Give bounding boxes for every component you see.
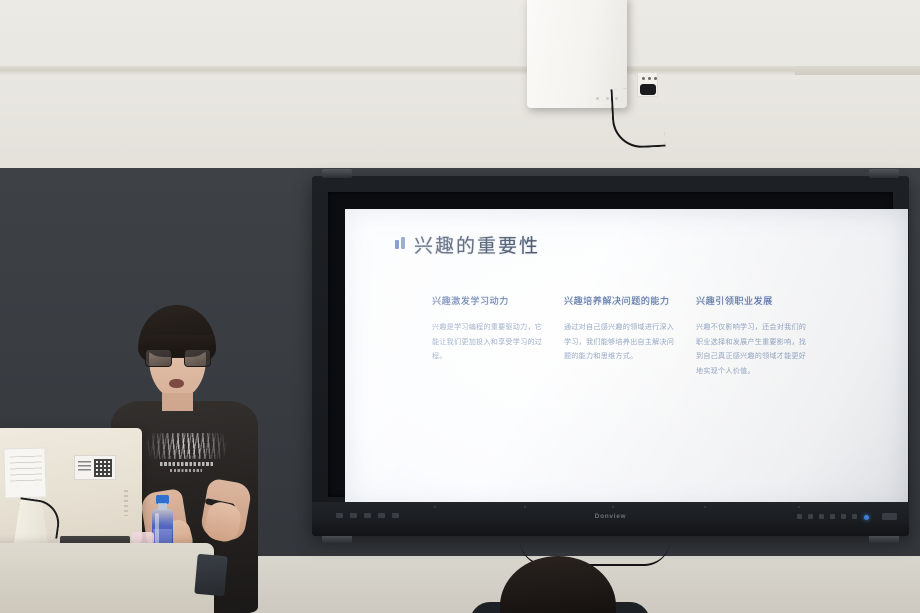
classroom-scene: 兴趣的重要性 兴趣激发学习动力 兴趣是学习编程的重要驱动力，它能让我们更加投入和…	[0, 0, 920, 613]
column-heading: 兴趣培养解决问题的能力	[564, 295, 675, 308]
mount-bracket-top-left	[322, 169, 352, 178]
interactive-display[interactable]: 兴趣的重要性 兴趣激发学习动力 兴趣是学习编程的重要驱动力，它能让我们更加投入和…	[312, 176, 909, 536]
monitor-vents	[124, 490, 128, 516]
column-heading: 兴趣引领职业发展	[696, 295, 807, 308]
slide-column-1: 兴趣激发学习动力 兴趣是学习编程的重要驱动力，它能让我们更加投入和享受学习的过程…	[432, 295, 543, 378]
hanging-badge	[194, 554, 227, 596]
tshirt-graphic	[144, 433, 230, 479]
column-heading: 兴趣激发学习动力	[432, 295, 543, 308]
paper-note	[3, 447, 46, 498]
column-body: 兴趣是学习编程的重要驱动力，它能让我们更加投入和享受学习的过程。	[432, 320, 543, 364]
presenter-mouth	[169, 379, 184, 388]
mount-bracket-top-right	[869, 169, 899, 178]
double-bar-icon	[395, 237, 405, 249]
page-title: 兴趣的重要性	[414, 231, 540, 258]
wall-panel-seam	[795, 66, 920, 75]
presentation-screen[interactable]: 兴趣的重要性 兴趣激发学习动力 兴趣是学习编程的重要驱动力，它能让我们更加投入和…	[345, 209, 908, 512]
column-body: 兴趣不仅影响学习，还会对我们的职业选择和发展产生重要影响，找到自己真正感兴趣的领…	[696, 320, 807, 378]
slide-title-row: 兴趣的重要性	[395, 231, 878, 258]
bezel-right-logo	[882, 513, 897, 520]
presenter-neck	[162, 393, 193, 411]
slide-content: 兴趣的重要性 兴趣激发学习动力 兴趣是学习编程的重要驱动力，它能让我们更加投入和…	[345, 209, 908, 512]
slide-columns: 兴趣激发学习动力 兴趣是学习编程的重要驱动力，它能让我们更加投入和享受学习的过程…	[432, 295, 807, 378]
slide-column-2: 兴趣培养解决问题的能力 通过对自己感兴趣的领域进行深入学习，我们能够培养出自主解…	[564, 295, 675, 378]
bezel-control-keys-right[interactable]	[797, 514, 857, 519]
classroom-wall	[0, 0, 920, 172]
lectern-desk	[0, 543, 214, 613]
slide-column-3: 兴趣引领职业发展 兴趣不仅影响学习，还会对我们的职业选择和发展产生重要影响，找到…	[696, 295, 807, 378]
qr-code-tag	[74, 455, 116, 480]
qr-code-icon	[94, 459, 112, 477]
display-inner-bezel: 兴趣的重要性 兴趣激发学习动力 兴趣是学习编程的重要驱动力，它能让我们更加投入和…	[328, 192, 893, 497]
wall-rail	[0, 66, 920, 75]
power-led-indicator	[864, 515, 869, 520]
column-body: 通过对自己感兴趣的领域进行深入学习，我们能够培养出自主解决问题的能力和思维方式。	[564, 320, 675, 364]
paper-note-lines	[10, 456, 43, 487]
glasses-icon	[145, 349, 211, 367]
outlet-holes	[642, 77, 657, 80]
display-bottom-bezel: Donview	[312, 502, 909, 536]
